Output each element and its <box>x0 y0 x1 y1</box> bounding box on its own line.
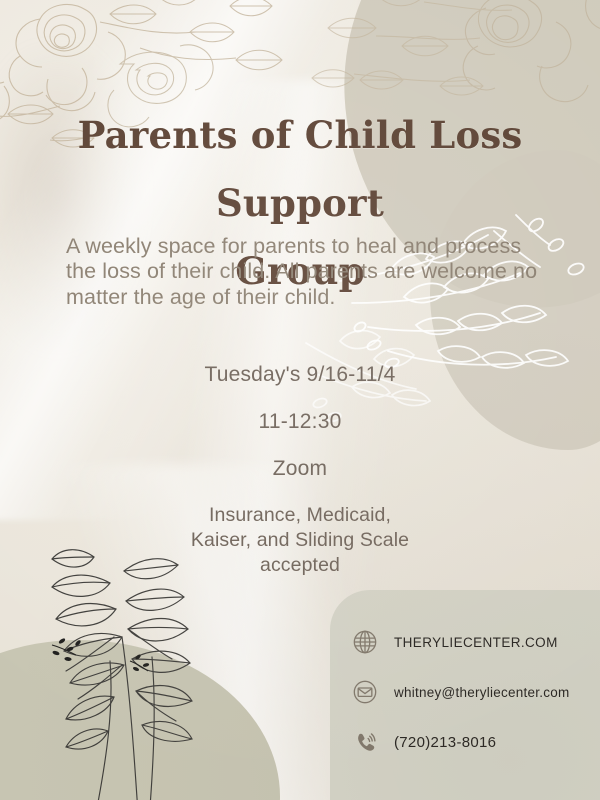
poster-canvas: Parents of Child Loss Support Group A we… <box>0 0 600 800</box>
detail-payment-line-3: accepted <box>0 553 600 578</box>
intro-paragraph: A weekly space for parents to heal and p… <box>66 234 556 311</box>
globe-icon <box>350 627 380 657</box>
detail-payment-line-2: Kaiser, and Sliding Scale <box>0 528 600 553</box>
detail-schedule: Tuesday's 9/16-11/4 <box>0 362 600 387</box>
contact-phone-label: (720)213-8016 <box>394 734 496 751</box>
phone-icon <box>350 727 380 757</box>
envelope-icon <box>350 677 380 707</box>
contact-row-email[interactable]: whitney@theryliecenter.com <box>350 668 600 716</box>
detail-time: 11-12:30 <box>0 409 600 434</box>
session-details: Tuesday's 9/16-11/4 11-12:30 Zoom Insura… <box>0 362 600 578</box>
contact-email-label: whitney@theryliecenter.com <box>394 685 570 700</box>
title-line-1: Parents of Child Loss Support <box>78 113 523 225</box>
contact-row-phone[interactable]: (720)213-8016 <box>350 718 600 766</box>
contact-website-label: THERYLIECENTER.COM <box>394 635 558 650</box>
detail-platform: Zoom <box>0 456 600 481</box>
detail-payment: Insurance, Medicaid, Kaiser, and Sliding… <box>0 503 600 578</box>
contact-list: THERYLIECENTER.COM whitney@theryliecente… <box>350 618 600 768</box>
contact-row-website[interactable]: THERYLIECENTER.COM <box>350 618 600 666</box>
detail-payment-line-1: Insurance, Medicaid, <box>0 503 600 528</box>
